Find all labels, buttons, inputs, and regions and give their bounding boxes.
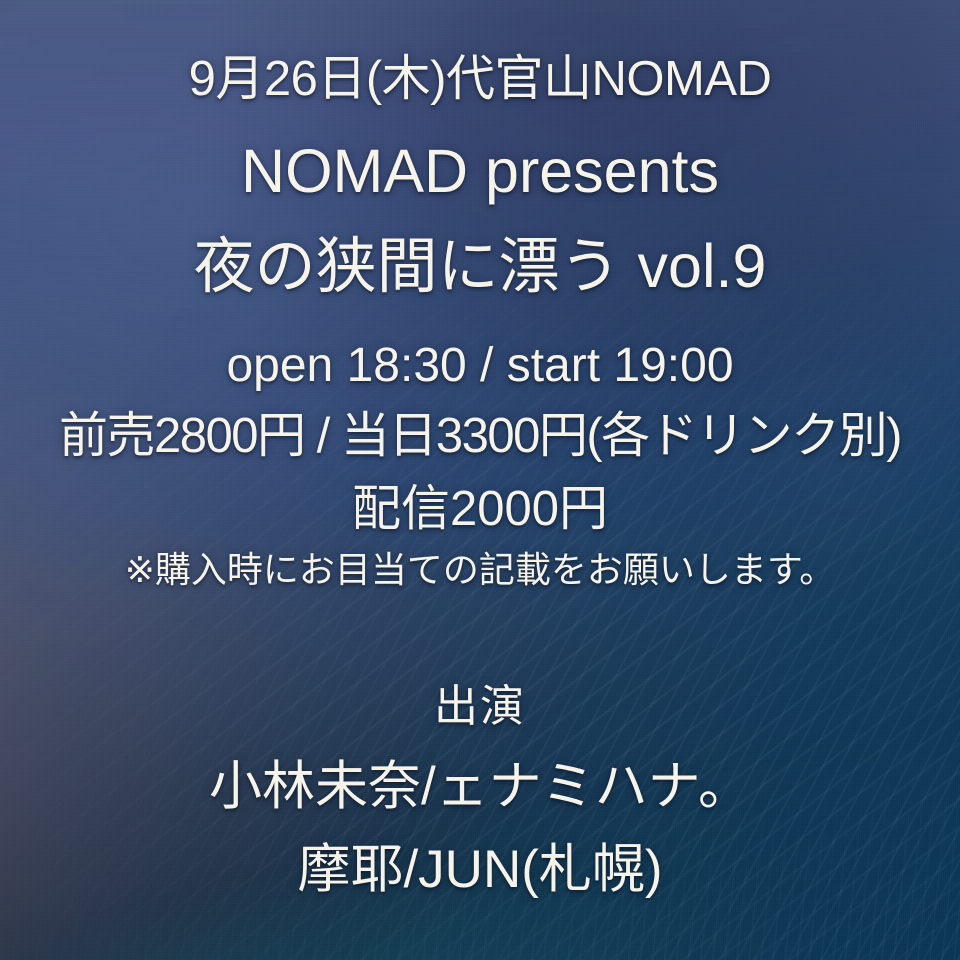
ticket-prices: 前売2800円 / 当日3300円(各ドリンク別) — [0, 412, 960, 461]
flyer-text-content: 9月26日(木)代官山NOMAD NOMAD presents 夜の狭間に漂う … — [0, 0, 960, 960]
cast-heading: 出演 — [0, 685, 960, 729]
cast-line-2: 摩耶/JUN(札幌) — [0, 843, 960, 896]
cast-line-1: 小林未奈/ェナミハナ。 — [0, 760, 960, 813]
presenter-name: NOMAD presents — [0, 141, 960, 202]
event-flyer: 9月26日(木)代官山NOMAD NOMAD presents 夜の狭間に漂う … — [0, 0, 960, 960]
open-start-times: open 18:30 / start 19:00 — [0, 342, 960, 390]
event-date-venue: 9月26日(木)代官山NOMAD — [0, 55, 960, 104]
event-title: 夜の狭間に漂う vol.9 — [0, 236, 960, 297]
streaming-price: 配信2000円 — [0, 485, 960, 534]
purchase-note: ※購入時にお目当ての記載をお願いします。 — [0, 552, 960, 588]
